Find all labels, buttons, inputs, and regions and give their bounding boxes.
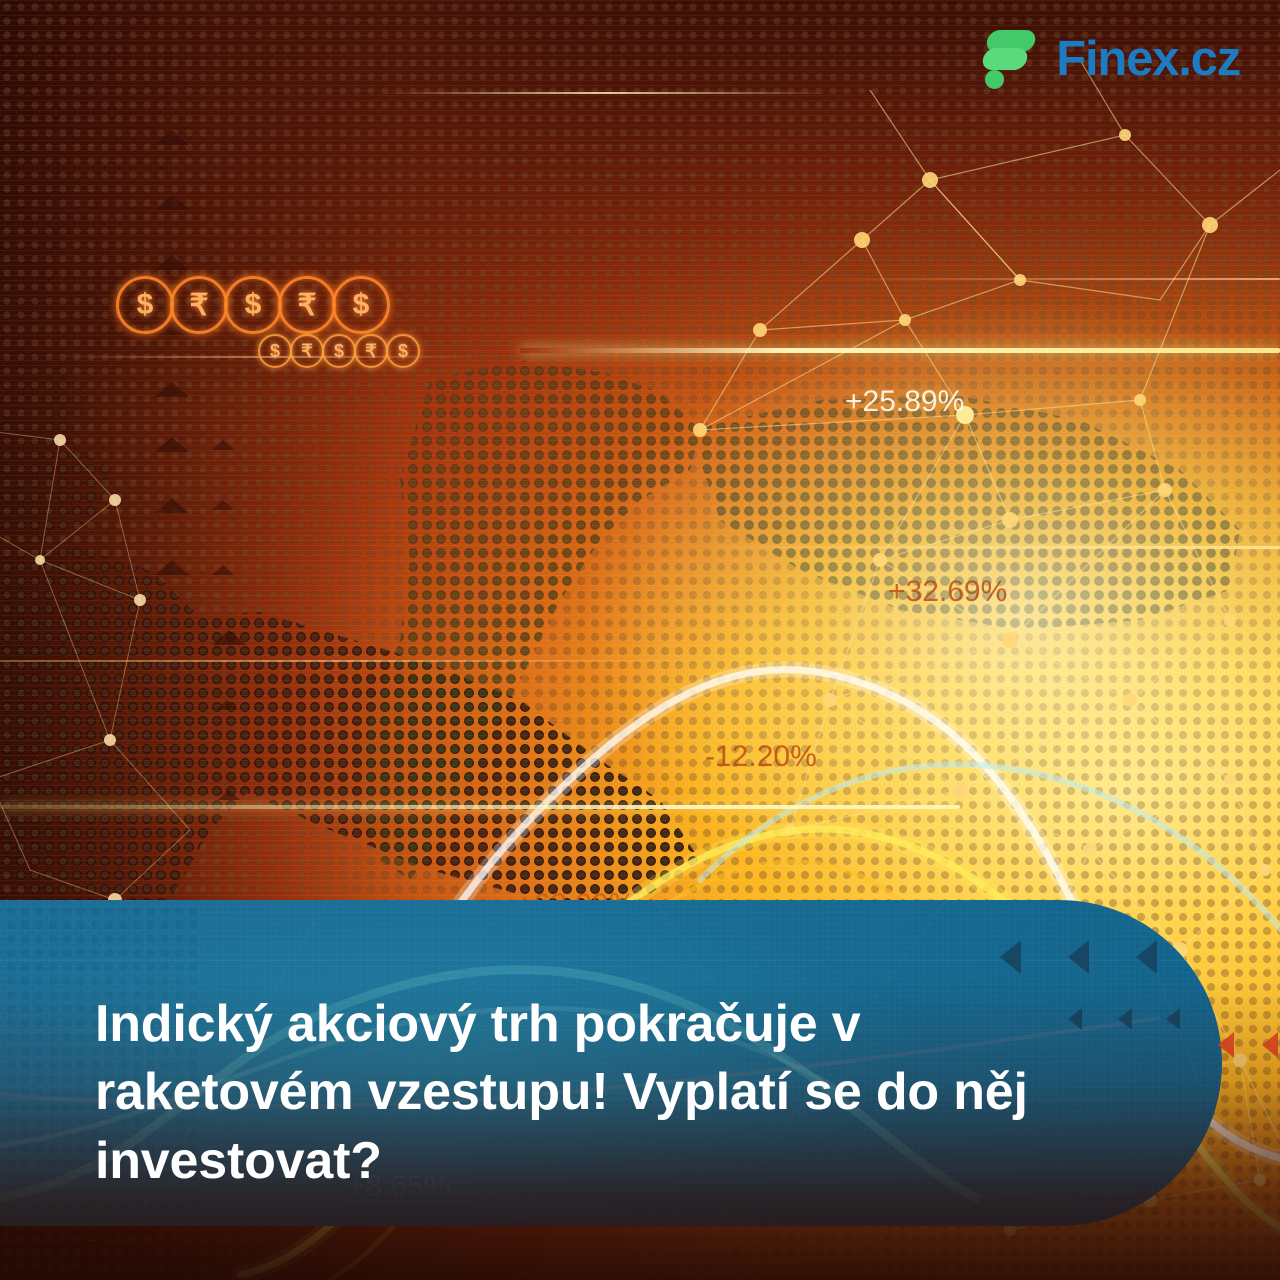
rupee-coin-icon: ₹	[354, 334, 388, 368]
triangle-up-icon	[212, 565, 234, 575]
dollar-coin-icon: $	[224, 276, 282, 334]
triangle-up-icon	[216, 700, 238, 710]
dollar-coin-icon: $	[116, 276, 174, 334]
brand-logo[interactable]: Finex.cz	[981, 28, 1240, 90]
light-streak	[520, 348, 1280, 353]
currency-coin-row-large: $ ₹ $ ₹ $	[116, 276, 386, 334]
social-card: $ ₹ $ ₹ $ $ ₹ $ ₹ $ +25.89% +32.69% -12.…	[0, 0, 1280, 1280]
triangle-up-icon	[212, 630, 246, 645]
rupee-coin-icon: ₹	[290, 334, 324, 368]
triangle-up-icon	[155, 255, 189, 270]
rupee-coin-icon: ₹	[170, 276, 228, 334]
dollar-coin-icon: $	[332, 276, 390, 334]
triangle-up-icon	[212, 500, 234, 510]
triangle-up-icon	[212, 440, 234, 450]
light-streak	[0, 660, 700, 662]
currency-coin-row-small: $ ₹ $ ₹ $	[258, 334, 418, 368]
ticker-value: -12.20%	[705, 740, 817, 774]
triangle-up-icon	[155, 382, 189, 397]
light-streak	[380, 92, 830, 94]
triangle-up-icon	[155, 437, 189, 452]
triangle-up-icon	[155, 130, 189, 145]
rupee-coin-icon: ₹	[278, 276, 336, 334]
finex-f-logo-icon	[981, 28, 1039, 90]
triangle-up-icon	[218, 790, 240, 800]
triangle-left-icon	[1136, 940, 1157, 974]
triangle-left-icon	[1068, 940, 1089, 974]
triangle-left-icon	[1000, 940, 1021, 974]
dollar-coin-icon: $	[386, 334, 420, 368]
triangle-up-icon	[155, 195, 189, 210]
light-streak	[820, 278, 1280, 280]
light-streak	[690, 546, 1280, 549]
ticker-value: +25.89%	[845, 385, 964, 419]
dollar-coin-icon: $	[322, 334, 356, 368]
light-streak	[0, 805, 960, 809]
page-title: Indický akciový trh pokračuje v raketové…	[95, 990, 1035, 1196]
brand-name: Finex.cz	[1056, 35, 1240, 84]
triangle-up-icon	[155, 560, 189, 575]
ticker-value: +32.69%	[888, 575, 1007, 609]
triangle-up-icon	[155, 498, 189, 513]
dollar-coin-icon: $	[258, 334, 292, 368]
